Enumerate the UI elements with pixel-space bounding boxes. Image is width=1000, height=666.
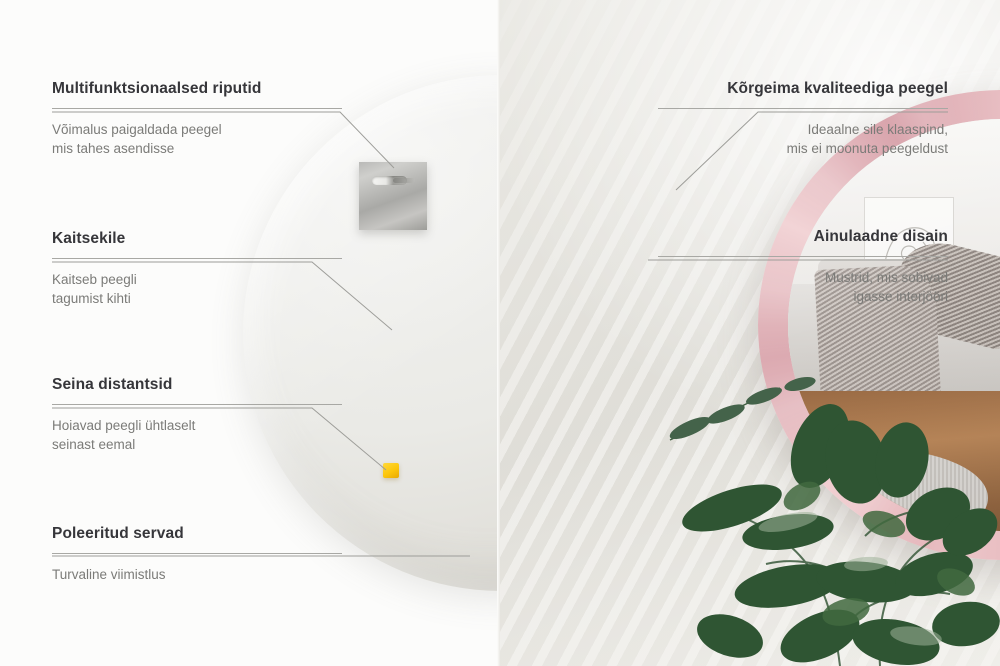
hanger-slot-shadow — [393, 178, 415, 183]
mirror-glass — [788, 119, 1000, 531]
foliage-sprig-upper — [660, 370, 840, 460]
infographic-canvas: Multifunktsionaalsed riputid Võimalus pa… — [0, 0, 1000, 666]
callout-poleeritud-servad: Poleeritud servad Turvaline viimistlus — [52, 525, 342, 584]
panel-divider — [497, 0, 500, 666]
callout-ainulaadne-disain: Ainulaadne disain Mustrid, mis sobivadig… — [658, 228, 948, 306]
callout-rule — [658, 256, 948, 257]
leaf-sprig-icon — [660, 370, 840, 460]
callout-rule — [52, 108, 342, 109]
callout-rule — [52, 404, 342, 405]
callout-title: Seina distantsid — [52, 376, 342, 395]
callout-title: Multifunktsionaalsed riputid — [52, 80, 342, 99]
callout-body: Mustrid, mis sobivadigasse interjööri — [658, 268, 948, 306]
wall-spacer — [383, 463, 399, 478]
callout-title: Ainulaadne disain — [658, 228, 948, 247]
callout-korgeima-kvaliteediga-peegel: Kõrgeima kvaliteediga peegel Ideaalne si… — [658, 80, 948, 158]
callout-rule — [52, 258, 342, 259]
callout-seina-distantsid: Seina distantsid Hoiavad peegli ühtlasel… — [52, 376, 342, 454]
callout-title: Poleeritud servad — [52, 525, 342, 544]
callout-multifunktsionaalsed-riputid: Multifunktsionaalsed riputid Võimalus pa… — [52, 80, 342, 158]
callout-body: Võimalus paigaldada peegelmis tahes asen… — [52, 120, 342, 158]
callout-rule — [52, 553, 342, 554]
callout-body: Kaitseb peeglitagumist kihti — [52, 270, 342, 308]
callout-kaitsekile: Kaitsekile Kaitseb peeglitagumist kihti — [52, 230, 342, 308]
callout-body: Ideaalne sile klaaspind,mis ei moonuta p… — [658, 120, 948, 158]
hanger-plate — [359, 162, 427, 230]
callout-title: Kaitsekile — [52, 230, 342, 249]
callout-body: Turvaline viimistlus — [52, 565, 342, 584]
reflection-glass-sheen — [788, 119, 1000, 531]
callout-title: Kõrgeima kvaliteediga peegel — [658, 80, 948, 99]
callout-rule — [658, 108, 948, 109]
callout-body: Hoiavad peegli ühtlaseltseinast eemal — [52, 416, 342, 454]
